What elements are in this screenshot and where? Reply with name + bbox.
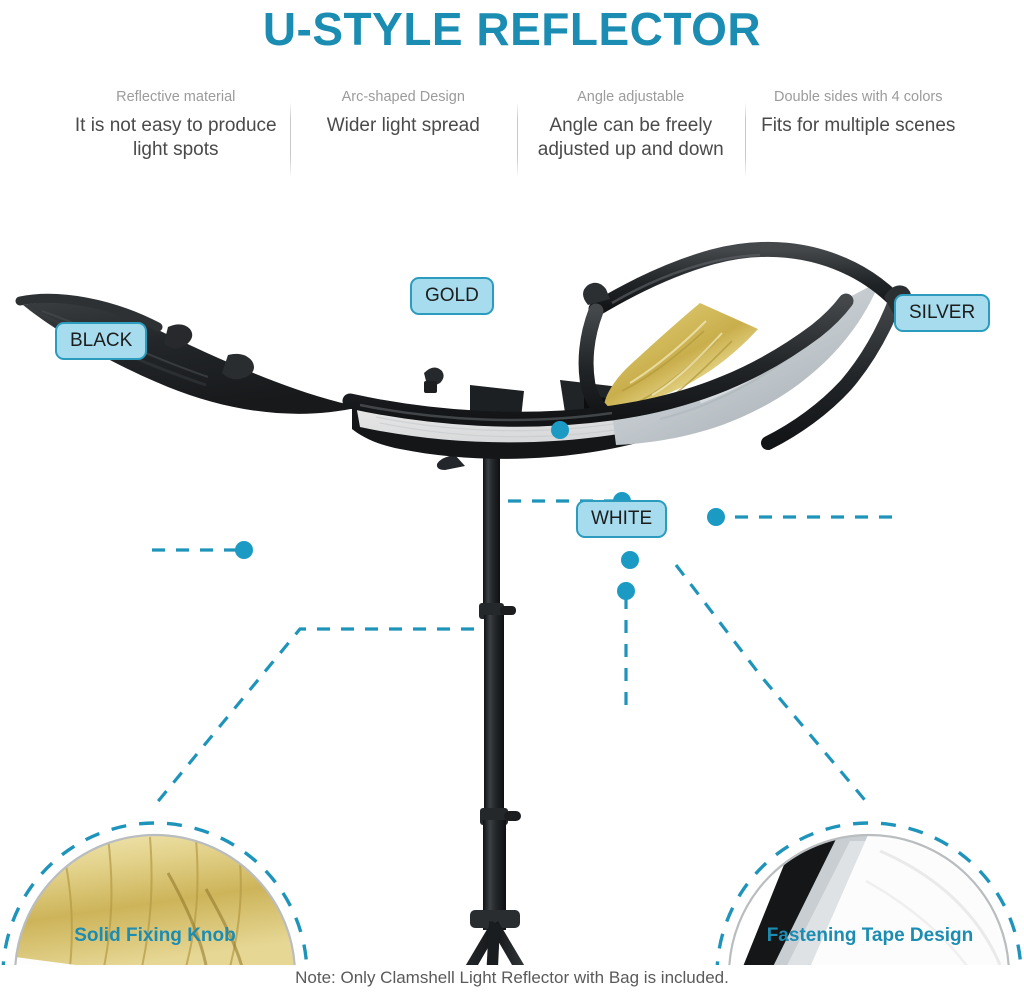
- light-stand: [384, 420, 606, 965]
- marker-dot-tape: [621, 551, 639, 569]
- callout-label-white[interactable]: WHITE: [576, 500, 667, 538]
- feature-item-2: Arc-shaped Design Wider light spread: [290, 88, 518, 138]
- feature-subtitle: Reflective material: [68, 88, 284, 108]
- feature-item-3: Angle adjustable Angle can be freely adj…: [517, 88, 745, 162]
- detail-caption-fastening-tape-design: Fastening Tape Design: [715, 925, 1024, 947]
- feature-subtitle: Angle adjustable: [523, 88, 739, 108]
- marker-dot-silver: [707, 508, 725, 526]
- feature-text: Angle can be freely adjusted up and down: [523, 114, 739, 163]
- feature-item-4: Double sides with 4 colors Fits for mult…: [745, 88, 973, 138]
- connector-tape-circle: [676, 565, 869, 805]
- marker-dot-white: [617, 582, 635, 600]
- callout-connector-lines: [152, 501, 892, 805]
- connector-knob-circle: [155, 629, 498, 805]
- feature-text: Wider light spread: [296, 114, 512, 138]
- marker-dot-knob: [551, 421, 569, 439]
- footer-note: Note: Only Clamshell Light Reflector wit…: [0, 968, 1024, 988]
- page-title: U-STYLE REFLECTOR: [0, 2, 1024, 56]
- callout-label-gold[interactable]: GOLD: [410, 277, 494, 315]
- marker-dot-black: [235, 541, 253, 559]
- product-illustration: [0, 205, 1024, 965]
- feature-subtitle: Arc-shaped Design: [296, 88, 512, 108]
- callout-label-black[interactable]: BLACK: [55, 322, 147, 360]
- callout-label-silver[interactable]: SILVER: [894, 294, 990, 332]
- feature-strip: Reflective material It is not easy to pr…: [62, 88, 972, 198]
- feature-subtitle: Double sides with 4 colors: [751, 88, 967, 108]
- product-infographic: U-STYLE REFLECTOR Reflective material It…: [0, 0, 1024, 1006]
- feature-text: Fits for multiple scenes: [751, 114, 967, 138]
- feature-text: It is not easy to produce light spots: [68, 114, 284, 163]
- feature-item-1: Reflective material It is not easy to pr…: [62, 88, 290, 162]
- detail-caption-solid-fixing-knob: Solid Fixing Knob: [0, 925, 310, 947]
